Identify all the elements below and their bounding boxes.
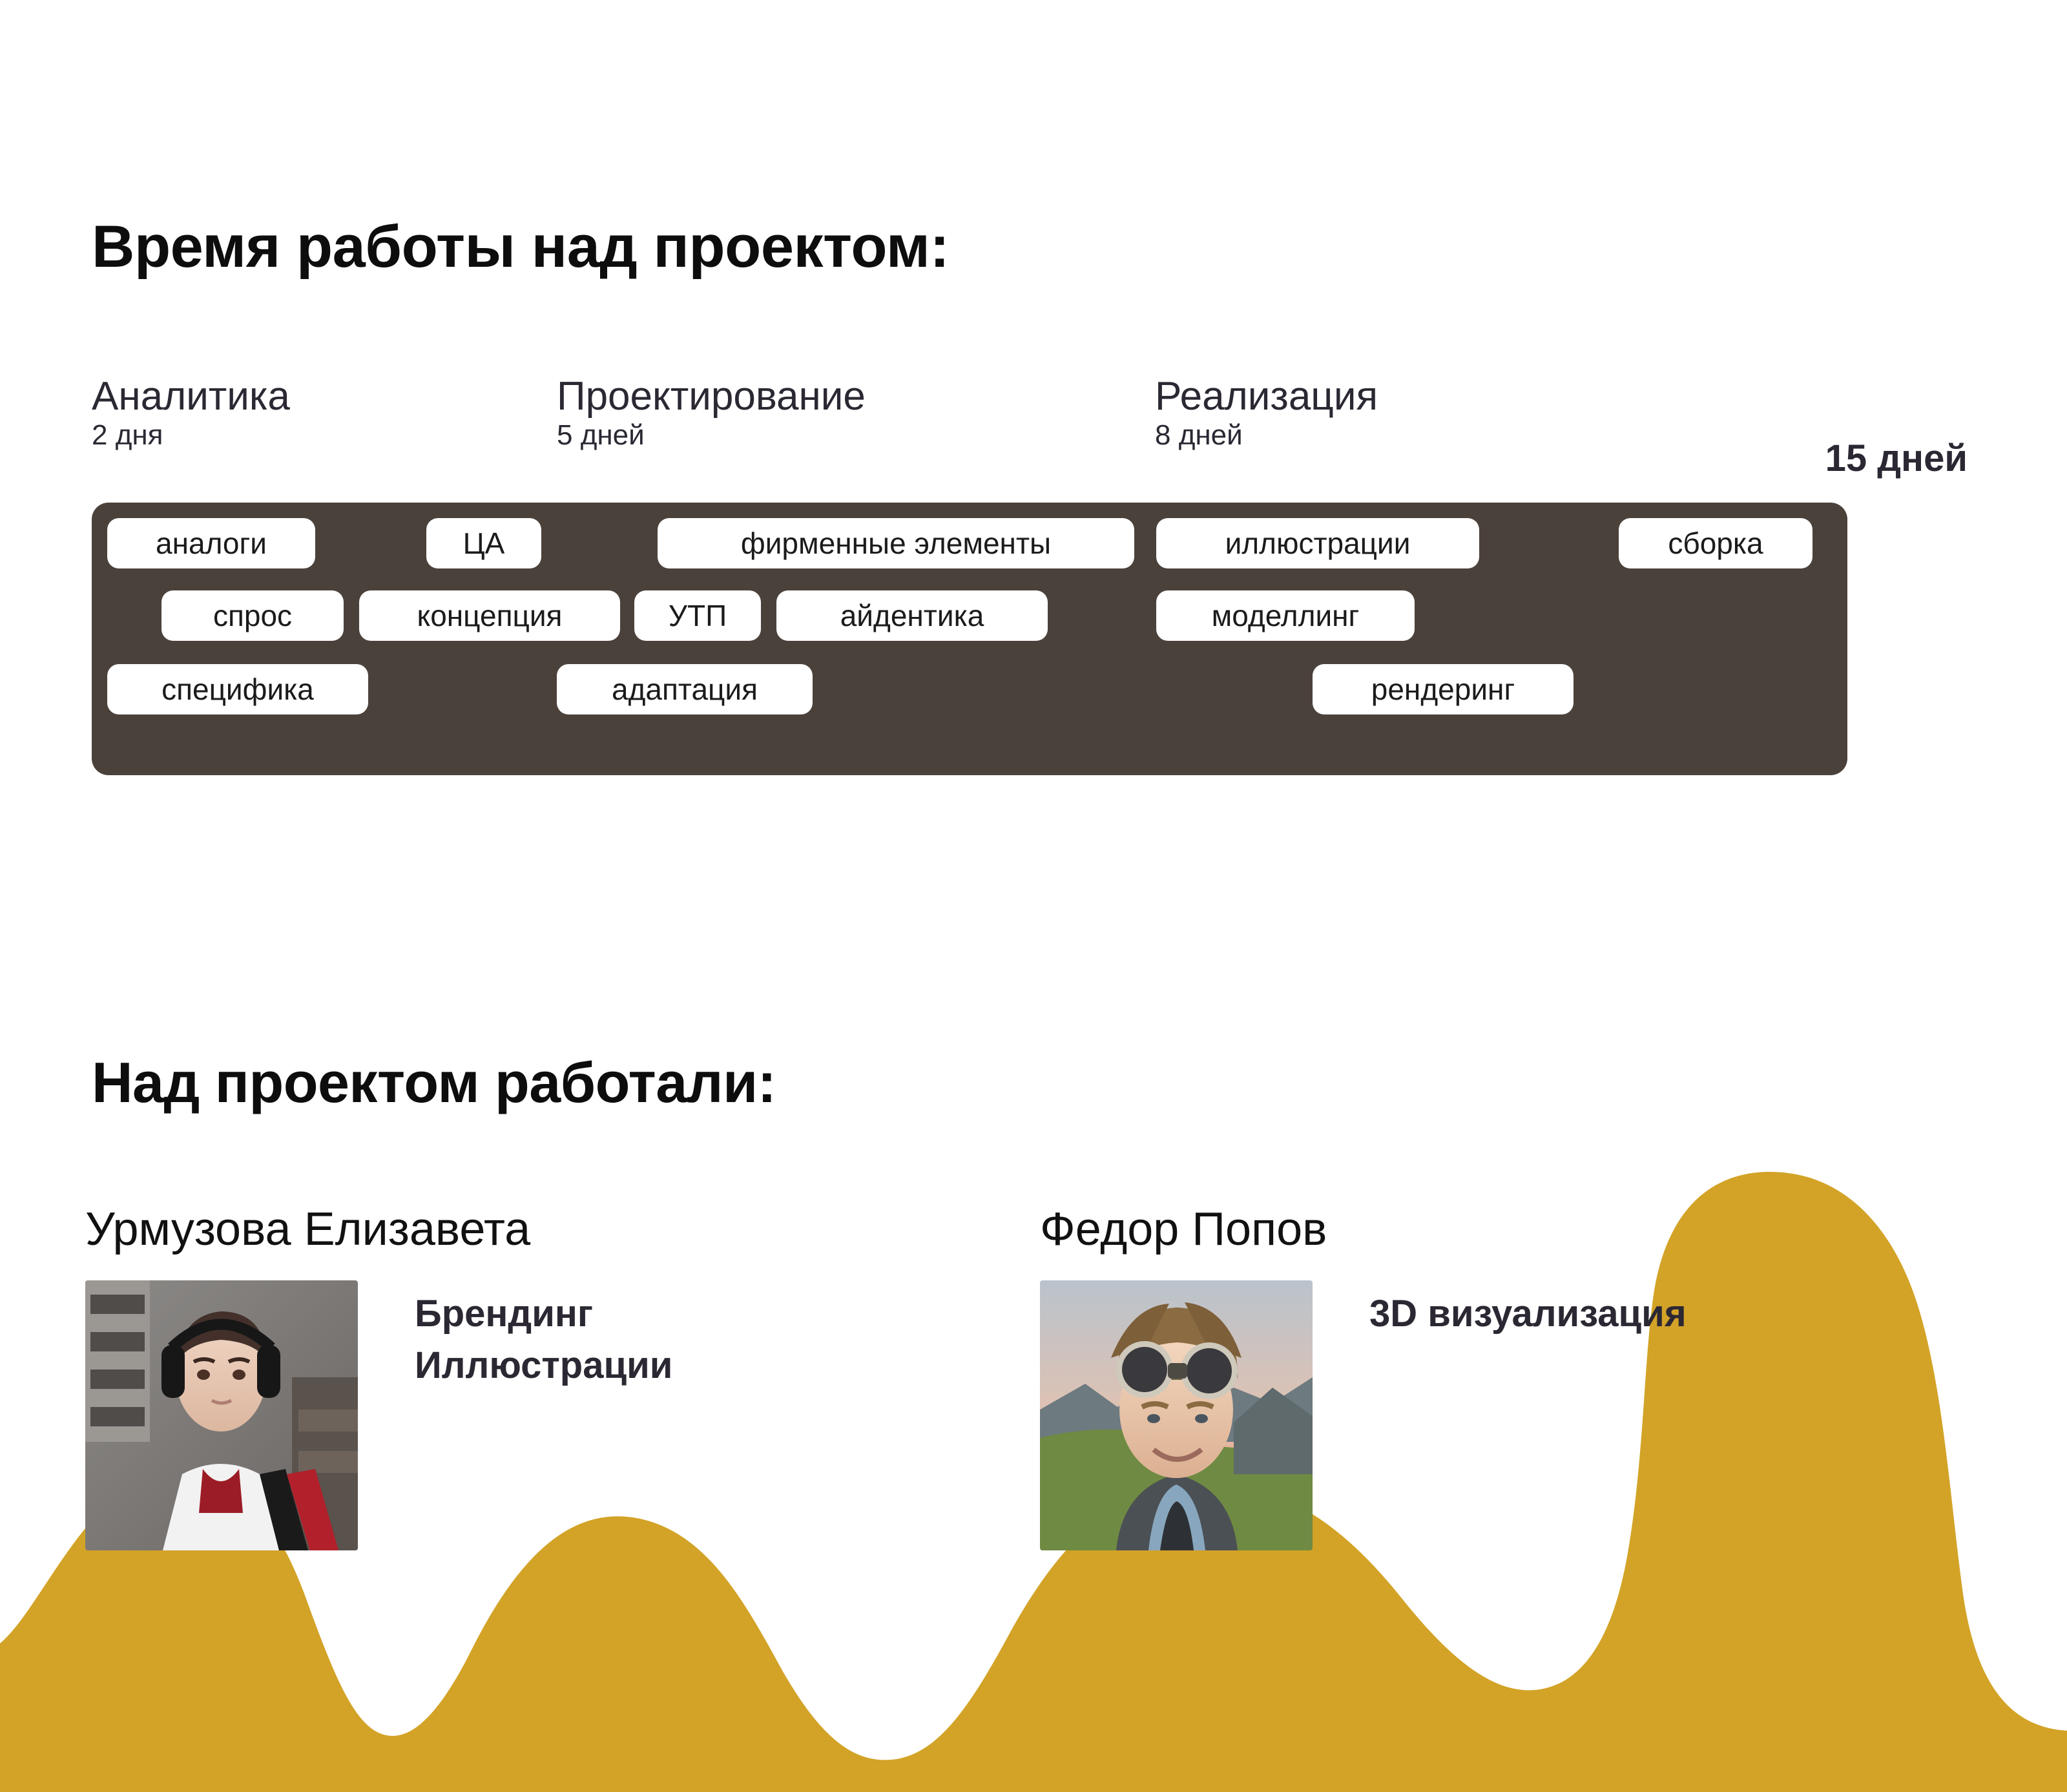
- stage-implementation: Реализация 8 дней: [1155, 376, 1378, 450]
- team-member-card: Урмузова Елизавета: [85, 1203, 672, 1550]
- timeline-tag-panel: аналоги ЦА фирменные элементы иллюстраци…: [92, 503, 1847, 775]
- page-title-timeline: Время работы над проектом:: [92, 213, 950, 281]
- tag-chip[interactable]: сборка: [1619, 518, 1813, 568]
- stage-design: Проектирование 5 дней: [557, 376, 866, 450]
- tag-chip[interactable]: рендеринг: [1313, 664, 1574, 714]
- team-member-name: Урмузова Елизавета: [85, 1203, 672, 1256]
- team-member-card: Федор Попов: [1040, 1203, 1687, 1550]
- stage-design-name: Проектирование: [557, 376, 866, 417]
- stage-analytics-name: Аналитика: [92, 376, 290, 417]
- avatar: [85, 1280, 358, 1550]
- team-member-role: Иллюстрации: [415, 1340, 672, 1391]
- stage-implementation-days: 8 дней: [1155, 421, 1378, 450]
- tag-chip[interactable]: фирменные элементы: [658, 518, 1134, 568]
- team-member-name: Федор Попов: [1040, 1203, 1687, 1256]
- tag-chip[interactable]: спрос: [161, 590, 344, 641]
- timeline-total-days: 15 дней: [1825, 437, 1968, 480]
- tag-chip[interactable]: иллюстрации: [1156, 518, 1479, 568]
- tag-chip[interactable]: айдентика: [776, 590, 1048, 641]
- avatar: [1040, 1280, 1313, 1550]
- team-member-roles: 3D визуализация: [1369, 1280, 1687, 1340]
- tag-chip[interactable]: аналоги: [107, 518, 315, 568]
- stage-analytics-days: 2 дня: [92, 421, 290, 450]
- tag-chip[interactable]: адаптация: [557, 664, 813, 714]
- team-member-role: Брендинг: [415, 1288, 672, 1340]
- tag-chip[interactable]: УТП: [634, 590, 761, 641]
- team-member-roles: Брендинг Иллюстрации: [415, 1280, 672, 1391]
- page-title-team: Над проектом работали:: [92, 1050, 776, 1116]
- avatar-photo-woman: [85, 1280, 358, 1550]
- tag-chip[interactable]: моделлинг: [1156, 590, 1415, 641]
- team-member-role: 3D визуализация: [1369, 1288, 1687, 1340]
- avatar-photo-man: [1040, 1280, 1313, 1550]
- tag-chip[interactable]: ЦА: [426, 518, 541, 568]
- tag-chip[interactable]: специфика: [107, 664, 368, 714]
- tag-chip[interactable]: концепция: [359, 590, 620, 641]
- stage-analytics: Аналитика 2 дня: [92, 376, 290, 450]
- stage-design-days: 5 дней: [557, 421, 866, 450]
- stage-implementation-name: Реализация: [1155, 376, 1378, 417]
